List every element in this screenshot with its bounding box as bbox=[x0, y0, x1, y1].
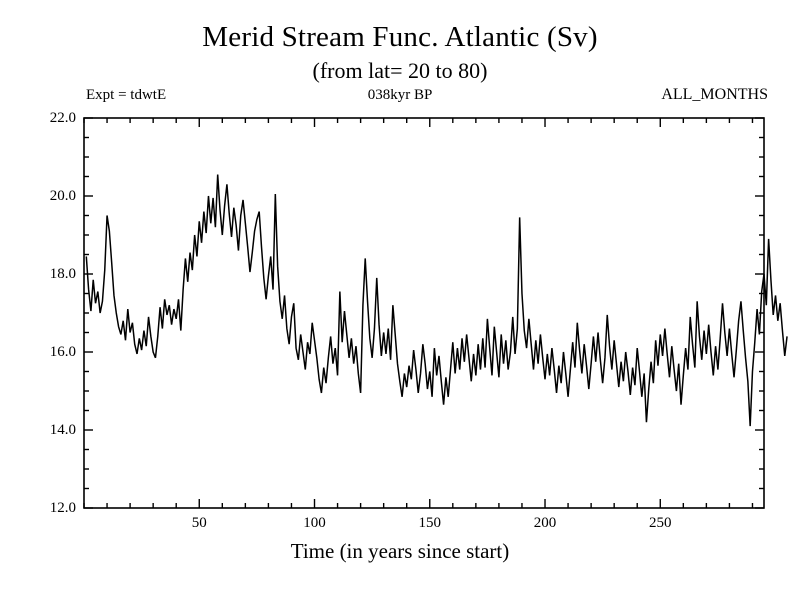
x-tick-label: 250 bbox=[630, 516, 690, 531]
x-tick-label: 150 bbox=[400, 516, 460, 531]
x-axis-title: Time (in years since start) bbox=[0, 538, 800, 564]
x-tick-label: 100 bbox=[285, 516, 345, 531]
y-tick-label: 22.0 bbox=[28, 111, 76, 126]
chart-figure: Merid Stream Func. Atlantic (Sv) (from l… bbox=[0, 0, 800, 600]
x-tick-label: 50 bbox=[169, 516, 229, 531]
y-tick-label: 20.0 bbox=[28, 189, 76, 204]
y-tick-label: 18.0 bbox=[28, 267, 76, 282]
y-tick-label: 14.0 bbox=[28, 423, 76, 438]
y-tick-label: 16.0 bbox=[28, 345, 76, 360]
plot-area bbox=[0, 0, 800, 600]
y-axis-tick-labels: 12.014.016.018.020.022.0 bbox=[28, 0, 76, 600]
y-tick-label: 12.0 bbox=[28, 501, 76, 516]
x-axis-tick-labels: 50100150200250 bbox=[0, 516, 800, 540]
x-tick-label: 200 bbox=[515, 516, 575, 531]
plot-frame bbox=[84, 118, 764, 508]
